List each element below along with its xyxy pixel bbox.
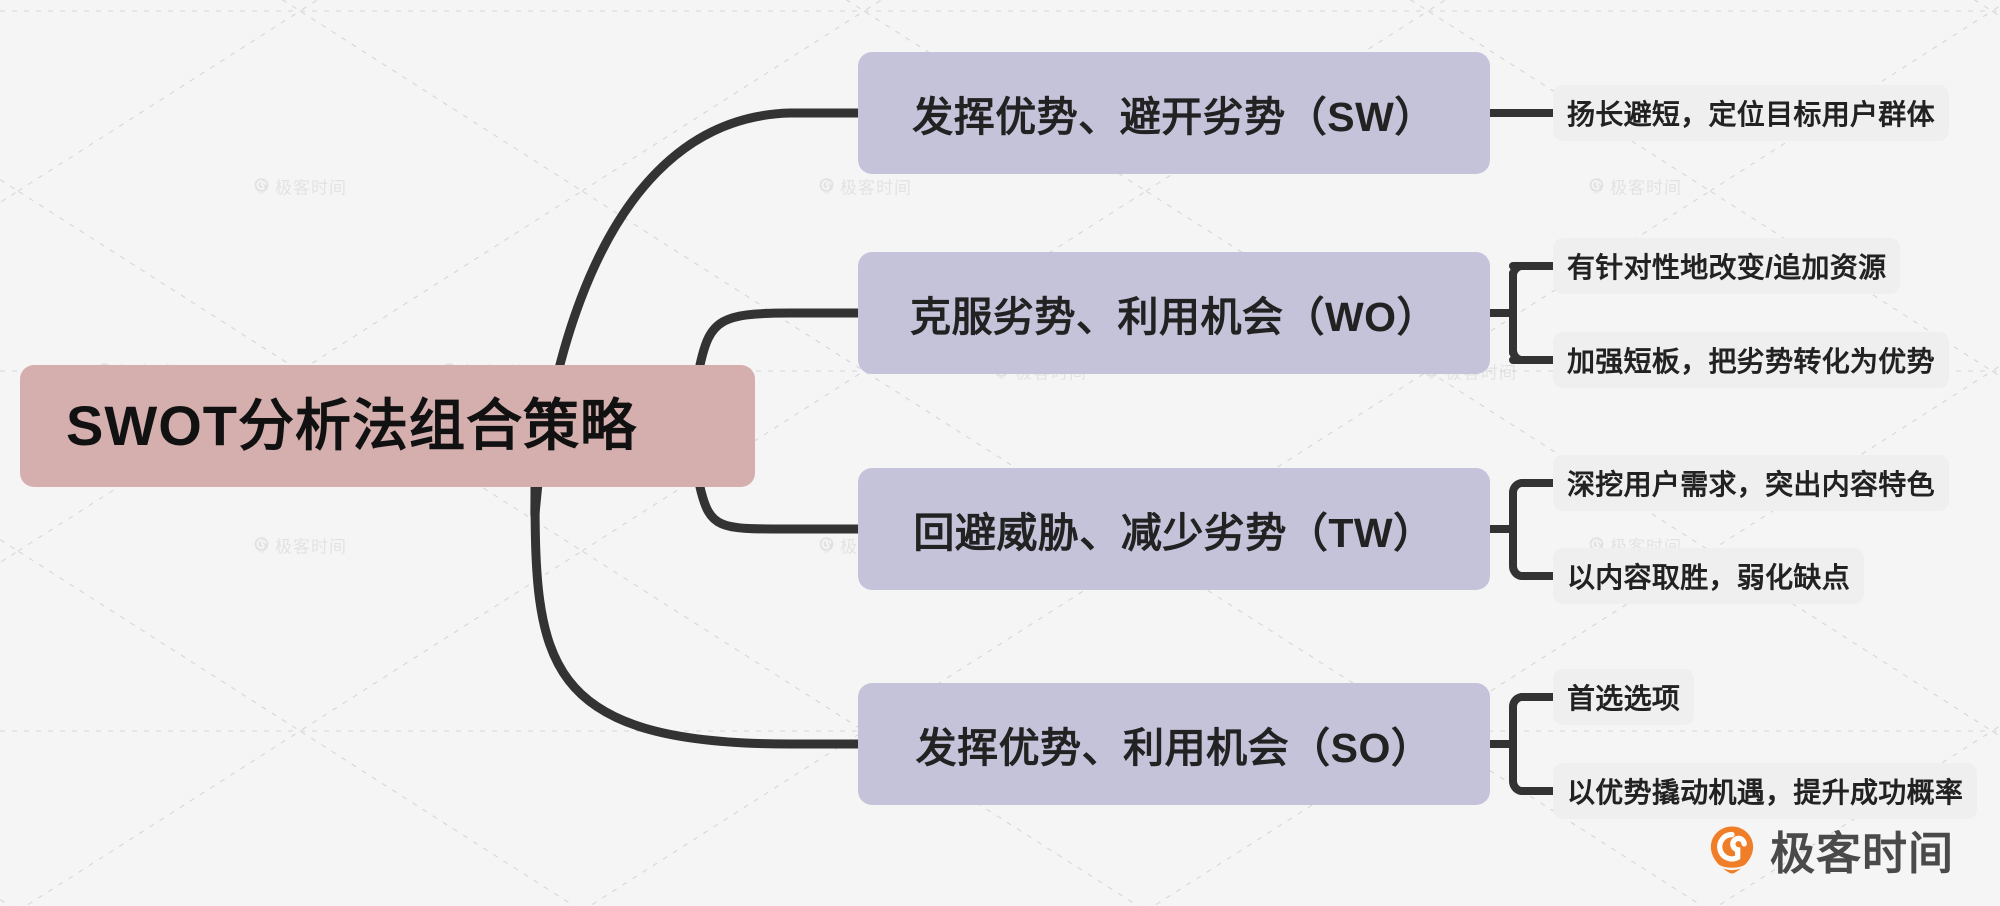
link-root-tw <box>700 487 858 529</box>
geektime-pin-icon <box>818 537 835 554</box>
branch-node-tw[interactable]: 回避威胁、减少劣势（TW） <box>858 468 1490 590</box>
brand-watermark: 极客时间 <box>818 174 912 199</box>
leaf-node-tw-1-label: 深挖用户需求，突出内容特色 <box>1567 463 1935 503</box>
branch-node-wo-label: 克服劣势、利用机会（WO） <box>910 283 1438 343</box>
link-so-bracket-round <box>1513 697 1553 791</box>
brand-watermark-label: 极客时间 <box>1610 174 1682 199</box>
branch-node-tw-label: 回避威胁、减少劣势（TW） <box>913 499 1434 559</box>
leaf-node-wo-2-label: 加强短板，把劣势转化为优势 <box>1567 340 1935 380</box>
brand-watermark: 极客时间 <box>253 174 347 199</box>
link-wo-bracket <box>1490 266 1553 360</box>
link-root-so <box>535 487 858 744</box>
leaf-node-wo-1-label: 有针对性地改变/追加资源 <box>1567 246 1886 286</box>
brand-watermark: 极客时间 <box>253 533 347 558</box>
leaf-node-so-1-label: 首选选项 <box>1567 677 1680 717</box>
link-wo-bracket-round <box>1513 266 1553 360</box>
leaf-node-tw-2[interactable]: 以内容取胜，弱化缺点 <box>1553 548 1864 604</box>
leaf-node-so-2[interactable]: 以优势撬动机遇，提升成功概率 <box>1553 763 1977 819</box>
brand-logo: 极客时间 <box>1706 817 1954 882</box>
leaf-node-wo-2[interactable]: 加强短板，把劣势转化为优势 <box>1553 332 1949 388</box>
branch-node-wo[interactable]: 克服劣势、利用机会（WO） <box>858 252 1490 374</box>
leaf-node-tw-1[interactable]: 深挖用户需求，突出内容特色 <box>1553 455 1949 511</box>
leaf-node-wo-1[interactable]: 有针对性地改变/追加资源 <box>1553 238 1900 294</box>
branch-node-sw[interactable]: 发挥优势、避开劣势（SW） <box>858 52 1490 174</box>
geektime-pin-icon <box>1706 824 1758 876</box>
geektime-pin-icon <box>253 178 270 195</box>
brand-watermark-label: 极客时间 <box>275 533 347 558</box>
brand-name: 极客时间 <box>1770 817 1954 882</box>
link-tw-bracket-round <box>1513 483 1553 576</box>
leaf-node-so-1[interactable]: 首选选项 <box>1553 669 1694 725</box>
leaf-node-sw-1-label: 扬长避短，定位目标用户群体 <box>1567 93 1935 133</box>
brand-watermark-label: 极客时间 <box>275 174 347 199</box>
leaf-node-tw-2-label: 以内容取胜，弱化缺点 <box>1567 556 1850 596</box>
leaf-node-so-2-label: 以优势撬动机遇，提升成功概率 <box>1567 771 1963 811</box>
brand-watermark-label: 极客时间 <box>840 174 912 199</box>
mindmap-canvas: 极客时间极客时间极客时间极客时间极客时间极客时间极客时间极客时间极客时间极客时间… <box>0 0 2000 906</box>
root-node[interactable]: SWOT分析法组合策略 <box>20 365 755 487</box>
geektime-pin-icon <box>818 178 835 195</box>
leaf-node-sw-1[interactable]: 扬长避短，定位目标用户群体 <box>1553 85 1949 141</box>
geektime-pin-icon <box>253 537 270 554</box>
branch-node-so-label: 发挥优势、利用机会（SO） <box>916 714 1433 774</box>
brand-watermark: 极客时间 <box>1588 174 1682 199</box>
root-node-label: SWOT分析法组合策略 <box>66 395 637 457</box>
link-root-wo <box>700 313 858 365</box>
branch-node-so[interactable]: 发挥优势、利用机会（SO） <box>858 683 1490 805</box>
geektime-pin-icon <box>1588 178 1605 195</box>
branch-node-sw-label: 发挥优势、避开劣势（SW） <box>912 83 1436 143</box>
